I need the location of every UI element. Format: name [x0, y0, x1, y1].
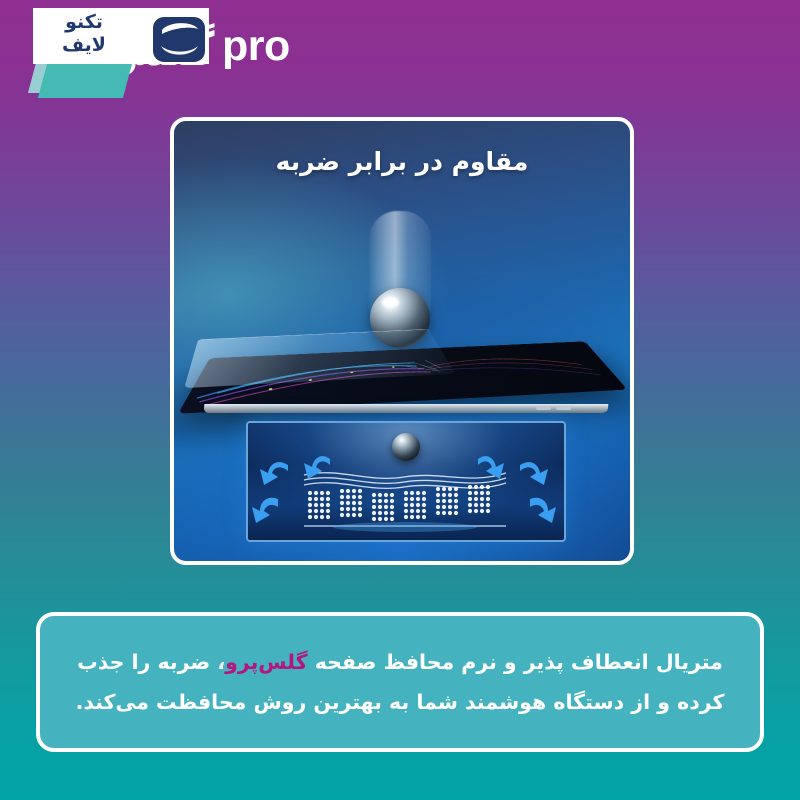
- caption-text: متریال انعطاف پذیر و نرم محافظ صفحه گلس‌…: [66, 642, 734, 722]
- background-pro-word: pro: [222, 22, 290, 71]
- ball-specular-highlight: [382, 297, 399, 308]
- technolife-swoosh-icon: [153, 17, 205, 62]
- technolife-logo-card[interactable]: تکنو لایف: [33, 8, 209, 64]
- tablet-button-nub: [556, 406, 571, 410]
- caption-text-before: متریال انعطاف پذیر و نرم محافظ صفحه: [308, 650, 723, 674]
- accent-parallelogram-main: [38, 60, 133, 98]
- tablet-device: [180, 309, 632, 437]
- hero-title: مقاوم در برابر ضربه: [174, 147, 630, 176]
- hero-image-panel: مقاوم در برابر ضربه: [170, 117, 634, 565]
- logo-line-one: تکنو: [41, 11, 127, 34]
- shock-absorption-diagram: [246, 421, 566, 542]
- caption-card: متریال انعطاف پذیر و نرم محافظ صفحه گلس‌…: [36, 612, 764, 752]
- brand-watermark-block: گلس pro تکنو لایف: [0, 0, 300, 105]
- caption-highlight-brand: گلس‌پرو: [225, 650, 307, 674]
- tablet-button-nub: [536, 406, 551, 410]
- logo-line-two: لایف: [41, 34, 127, 56]
- technolife-logo-text: تکنو لایف: [41, 11, 127, 61]
- product-feature-slide: گلس pro تکنو لایف مقاوم در برابر ضربه: [0, 0, 800, 800]
